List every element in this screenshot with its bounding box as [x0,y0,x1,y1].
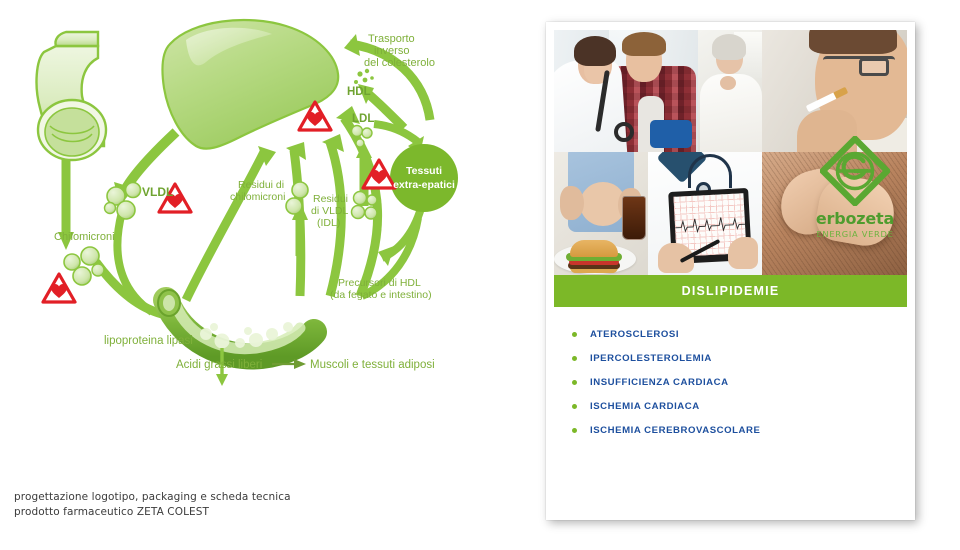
list-item-label: ISCHEMIA CEREBROVASCOLARE [590,425,760,436]
caption-line-1: progettazione logotipo, packaging e sche… [14,490,291,505]
tessuti-extra-epatici-node [390,144,458,212]
list-item: INSUFFICIENZA CARDIACA [572,370,892,394]
screenshot-root: Trasporto inverso del colesterolo HDL LD… [0,0,960,550]
photo-ecg-clipboard [648,152,762,275]
list-item-label: INSUFFICIENZA CARDIACA [590,377,729,388]
warning-heart-triangle-icon-4 [43,274,75,302]
label-ldl: LDL [352,113,374,125]
list-item: ISCHEMIA CEREBROVASCOLARE [572,418,892,442]
bullet-dot-icon [572,404,577,409]
label-precursori-2: (da fegato e intestino) [330,289,432,301]
label-residui-chilo-1: Residui di [238,179,284,191]
lipid-cycle-illustration: Trasporto inverso del colesterolo HDL LD… [0,0,530,480]
particle-cluster-residui-chilomicroni [286,182,308,214]
label-trasporto-inverso-2: inverso [374,45,409,57]
bullet-dot-icon [572,356,577,361]
label-residui-vldl-2: di VLDL [311,205,349,217]
caption-line-2: prodotto farmaceutico ZETA COLEST [14,505,291,520]
label-trasporto-inverso-3: del colesterolo [364,57,435,69]
label-acidi-grassi: Acidi grassi liberi [176,359,262,371]
label-tessuti-1: Tessuti [406,165,442,177]
bullet-dot-icon [572,332,577,337]
label-muscoli: Muscoli e tessuti adiposi [310,359,435,371]
photo-obesity-fast-food [554,152,648,275]
list-item: IPERCOLESTEROLEMIA [572,346,892,370]
label-hdl: HDL [347,86,371,98]
dislipidemie-banner: DISLIPIDEMIE [554,275,907,307]
label-trasporto-inverso-1: Trasporto [368,33,415,45]
photo-elderly-woman [698,30,762,152]
photo-doctor-blood-pressure [554,30,698,152]
label-vldl: VLDL [142,185,173,199]
project-caption: progettazione logotipo, packaging e sche… [14,490,291,520]
bullet-dot-icon [572,428,577,433]
bullet-dot-icon [572,380,577,385]
list-item-label: IPERCOLESTEROLEMIA [590,353,712,364]
diamond-e-logo-icon [820,136,890,206]
logo-tagline: ENERGIA VERDE [807,229,903,239]
logo-wordmark: erbozeta [807,209,903,228]
lipoprotein-cycle-diagram: Trasporto inverso del colesterolo HDL LD… [0,0,530,550]
label-precursori-1: Precursori di HDL [338,277,421,289]
label-residui-chilo-2: chilomicroni [230,191,285,203]
photo-smoker [762,30,907,152]
label-tessuti-2: extra-epatici [393,179,455,191]
banner-title: DISLIPIDEMIE [682,284,780,298]
dislipidemie-product-card: DISLIPIDEMIE ATEROSCLEROSI IPERCOLESTERO… [546,22,915,520]
ecg-trace-icon [675,212,746,234]
label-residui-vldl-1: Residui [313,193,348,205]
condition-list: ATEROSCLEROSI IPERCOLESTEROLEMIA INSUFFI… [572,322,892,442]
intestine-icon [37,32,106,160]
erbozeta-logo: erbozeta ENERGIA VERDE [807,136,903,239]
list-item-label: ISCHEMIA CARDIACA [590,401,700,412]
list-item: ISCHEMIA CARDIACA [572,394,892,418]
label-residui-vldl-3: (IDL) [317,217,340,229]
label-lipoproteina-lipasi: lipoproteina lipasi [104,335,193,347]
list-item: ATEROSCLEROSI [572,322,892,346]
label-chilomicroni: Chilomicroni [54,231,115,243]
particle-cluster-chilomicroni [64,247,104,285]
particle-cluster-hdl [354,69,374,84]
list-item-label: ATEROSCLEROSI [590,329,679,340]
